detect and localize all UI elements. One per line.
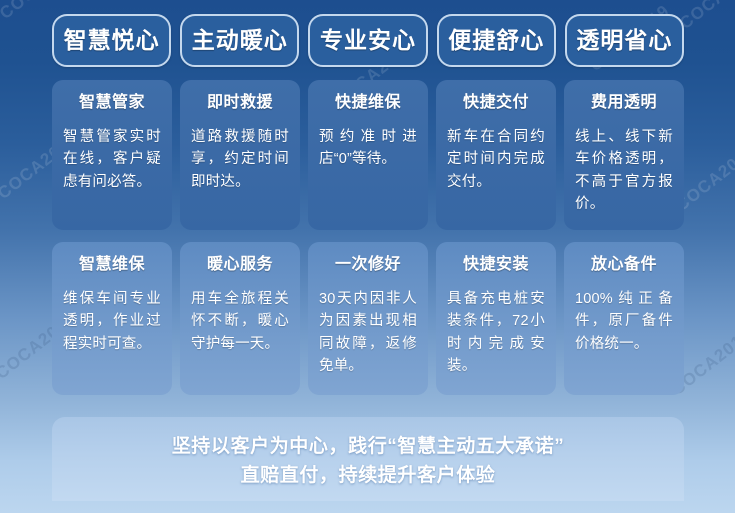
feature-card[interactable]: 即时救援 道路救援随时享，约定时间即时达。 (180, 80, 300, 230)
feature-card[interactable]: 快捷维保 预约准时进店“0”等待。 (308, 80, 428, 230)
feature-card-title: 暖心服务 (189, 256, 291, 274)
feature-card-body: 用车全旅程关怀不断，暖心守护每一天。 (189, 288, 291, 355)
feature-card-body: 预约准时进店“0”等待。 (317, 126, 419, 171)
promise-pill-4[interactable]: 便捷舒心 (437, 14, 556, 67)
feature-card[interactable]: 放心备件 100%纯正备件，原厂备件价格统一。 (564, 242, 684, 395)
feature-card-body: 线上、线下新车价格透明，不高于官方报价。 (573, 126, 675, 216)
promise-pill-1[interactable]: 智慧悦心 (52, 14, 171, 67)
feature-card-row-top: 智慧管家 智慧管家实时在线，客户疑虑有问必答。 即时救援 道路救援随时享，约定时… (52, 80, 684, 230)
promise-pill-label: 专业安心 (320, 29, 416, 52)
feature-card[interactable]: 一次修好 30天内因非人为因素出现相同故障，返修免单。 (308, 242, 428, 395)
summary-banner-line-1: 坚持以客户为中心，践行“智慧主动五大承诺” (172, 432, 565, 461)
feature-card-title: 快捷维保 (317, 94, 419, 112)
feature-card-body: 智慧管家实时在线，客户疑虑有问必答。 (61, 126, 163, 193)
promise-pill-3[interactable]: 专业安心 (308, 14, 427, 67)
feature-card-body: 30天内因非人为因素出现相同故障，返修免单。 (317, 288, 419, 378)
feature-card[interactable]: 暖心服务 用车全旅程关怀不断，暖心守护每一天。 (180, 242, 300, 395)
promise-pill-2[interactable]: 主动暖心 (180, 14, 299, 67)
feature-card[interactable]: 费用透明 线上、线下新车价格透明，不高于官方报价。 (564, 80, 684, 230)
feature-card-title: 一次修好 (317, 256, 419, 274)
feature-card[interactable]: 智慧维保 维保车间专业透明，作业过程实时可查。 (52, 242, 172, 395)
summary-banner: 坚持以客户为中心，践行“智慧主动五大承诺” 直赔直付，持续提升客户体验 (52, 417, 684, 501)
promise-pill-5[interactable]: 透明省心 (565, 14, 684, 67)
promise-pill-row: 智慧悦心 主动暖心 专业安心 便捷舒心 透明省心 (52, 14, 684, 67)
feature-card-body: 100%纯正备件，原厂备件价格统一。 (573, 288, 675, 355)
feature-card-title: 费用透明 (573, 94, 675, 112)
summary-banner-line-2: 直赔直付，持续提升客户体验 (241, 461, 496, 490)
feature-card-row-bottom: 智慧维保 维保车间专业透明，作业过程实时可查。 暖心服务 用车全旅程关怀不断，暖… (52, 242, 684, 395)
feature-card-title: 智慧管家 (61, 94, 163, 112)
promise-pill-label: 智慧悦心 (64, 29, 160, 52)
feature-card[interactable]: 快捷安装 具备充电桩安装条件，72小时内完成安装。 (436, 242, 556, 395)
feature-card-body: 新车在合同约定时间内完成交付。 (445, 126, 547, 193)
feature-card-body: 维保车间专业透明，作业过程实时可查。 (61, 288, 163, 355)
feature-card-title: 智慧维保 (61, 256, 163, 274)
feature-card-title: 放心备件 (573, 256, 675, 274)
feature-card-body: 道路救援随时享，约定时间即时达。 (189, 126, 291, 193)
feature-card-title: 即时救援 (189, 94, 291, 112)
promise-pill-label: 主动暖心 (192, 29, 288, 52)
slide-canvas: COCA2019 COCA2019 COCA2019 COCA2019 COCA… (0, 0, 735, 513)
feature-card[interactable]: 快捷交付 新车在合同约定时间内完成交付。 (436, 80, 556, 230)
promise-pill-label: 便捷舒心 (448, 29, 544, 52)
watermark: COCA2019 (676, 0, 735, 34)
promise-pill-label: 透明省心 (576, 29, 672, 52)
feature-card-title: 快捷安装 (445, 256, 547, 274)
feature-card-body: 具备充电桩安装条件，72小时内完成安装。 (445, 288, 547, 378)
feature-card-title: 快捷交付 (445, 94, 547, 112)
feature-card[interactable]: 智慧管家 智慧管家实时在线，客户疑虑有问必答。 (52, 80, 172, 230)
